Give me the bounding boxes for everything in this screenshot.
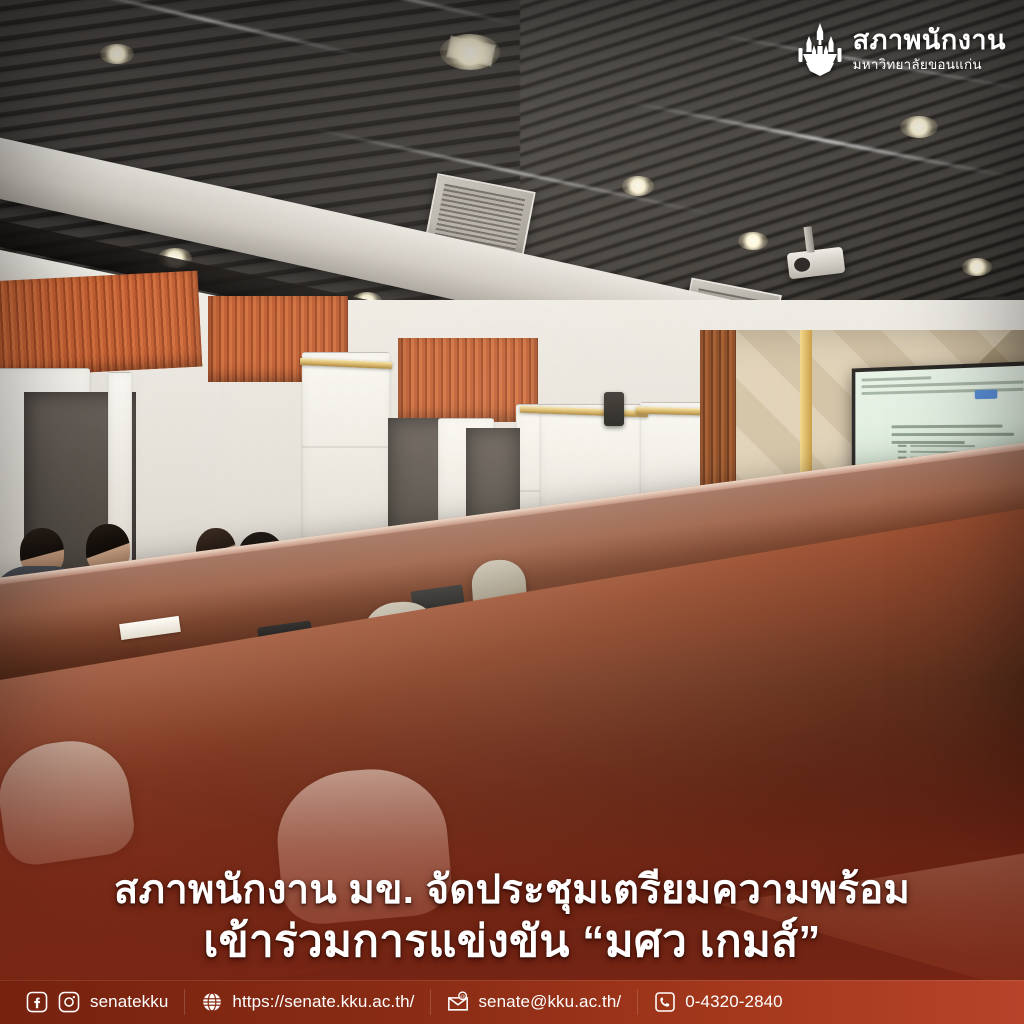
logo-subtitle: มหาวิทยาลัยขอนแก่น bbox=[853, 58, 1006, 72]
facebook-icon[interactable] bbox=[26, 991, 48, 1013]
caption-line-2: เข้าร่วมการแข่งขัน “มศว เกมส์” bbox=[0, 916, 1024, 968]
poster-canvas: สภาพนักงาน มหาวิทยาลัยขอนแก่น สภาพนักงาน… bbox=[0, 0, 1024, 1024]
wall-wood-slat-panel bbox=[0, 271, 202, 378]
footer-item-email[interactable]: @ senate@kku.ac.th/ bbox=[431, 980, 637, 1024]
kku-stupa-emblem-icon bbox=[797, 22, 843, 76]
footer-item-phone[interactable]: 0-4320-2840 bbox=[638, 980, 799, 1024]
footer-phone-number: 0-4320-2840 bbox=[685, 992, 783, 1012]
footer-item-website[interactable]: https://senate.kku.ac.th/ bbox=[185, 980, 430, 1024]
logo-wordmark: สภาพนักงาน มหาวิทยาลัยขอนแก่น bbox=[853, 27, 1006, 72]
ceiling-downlight bbox=[738, 232, 768, 250]
svg-text:@: @ bbox=[461, 994, 466, 1000]
footer-social-handle: senatekku bbox=[90, 992, 168, 1012]
organization-logo: สภาพนักงาน มหาวิทยาลัยขอนแก่น bbox=[797, 22, 1006, 76]
ceiling-downlight bbox=[962, 258, 992, 276]
ceiling-downlight bbox=[622, 176, 654, 196]
document-highlight bbox=[975, 390, 997, 399]
email-icon[interactable]: @ bbox=[447, 991, 469, 1013]
ceiling-downlight bbox=[440, 34, 500, 70]
footer-website-url: https://senate.kku.ac.th/ bbox=[232, 992, 414, 1012]
instagram-icon[interactable] bbox=[58, 991, 80, 1013]
document-toolbar bbox=[862, 373, 1024, 400]
footer-email-address: senate@kku.ac.th/ bbox=[478, 992, 621, 1012]
globe-icon[interactable] bbox=[201, 991, 223, 1013]
panel-seam bbox=[302, 446, 388, 448]
wall-speaker bbox=[604, 392, 624, 426]
logo-title: สภาพนักงาน bbox=[853, 27, 1006, 54]
phone-icon[interactable] bbox=[654, 991, 676, 1013]
caption-block: สภาพนักงาน มข. จัดประชุมเตรียมความพร้อม … bbox=[0, 867, 1024, 968]
caption-line-1: สภาพนักงาน มข. จัดประชุมเตรียมความพร้อม bbox=[0, 867, 1024, 914]
contact-footer-bar: senatekku https://senate.kku.ac.th/ bbox=[0, 980, 1024, 1024]
ceiling-downlight bbox=[900, 116, 938, 138]
footer-item-social[interactable]: senatekku bbox=[0, 980, 184, 1024]
ceiling-downlight bbox=[100, 44, 134, 64]
